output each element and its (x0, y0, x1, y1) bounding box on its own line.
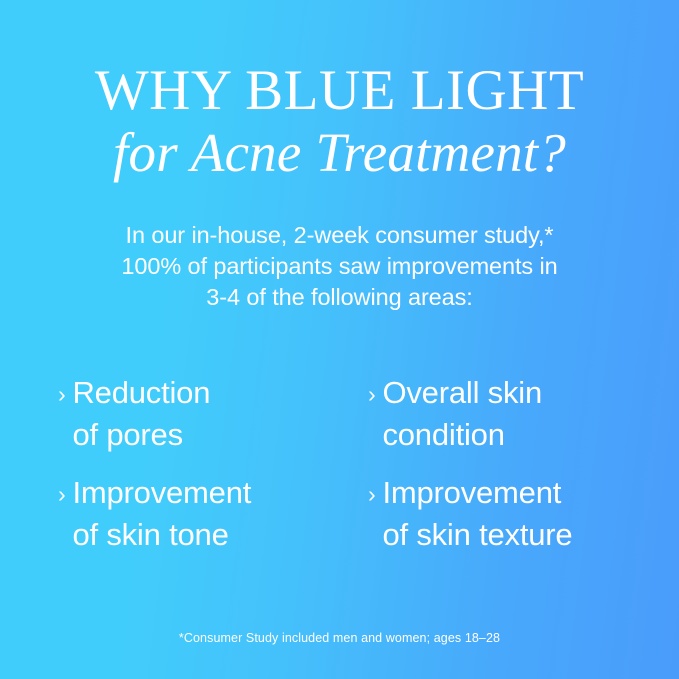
chevron-right-icon: › (58, 472, 65, 516)
chevron-right-icon: › (368, 372, 375, 416)
benefit-label-line-1: Improvement (72, 475, 251, 510)
benefit-label-line-1: Reduction (72, 375, 210, 410)
benefit-label-line-2: of pores (72, 414, 358, 456)
footnote-disclaimer: *Consumer Study included men and women; … (0, 631, 679, 645)
benefit-item-reduction-of-pores: › Reduction of pores (58, 372, 358, 472)
benefit-label: Reduction of pores (72, 372, 358, 456)
intro-line-2: 100% of participants saw improvements in (70, 251, 610, 282)
benefit-label-line-1: Improvement (382, 475, 561, 510)
chevron-right-icon: › (368, 472, 375, 516)
headline-line-secondary: for Acne Treatment? (0, 125, 679, 180)
benefit-label: Improvement of skin texture (382, 472, 668, 556)
chevron-right-icon: › (58, 372, 65, 416)
intro-line-3: 3-4 of the following areas: (70, 282, 610, 313)
benefits-grid: › Reduction of pores › Overall skin cond… (58, 372, 668, 572)
benefit-label-line-2: of skin tone (72, 514, 358, 556)
poster-canvas: WHY BLUE LIGHT for Acne Treatment? In ou… (0, 0, 679, 679)
page-title: WHY BLUE LIGHT for Acne Treatment? (0, 62, 679, 180)
headline-line-primary: WHY BLUE LIGHT (0, 62, 679, 119)
benefit-label-line-2: of skin texture (382, 514, 668, 556)
benefit-item-improvement-of-skin-texture: › Improvement of skin texture (368, 472, 668, 572)
benefit-label-line-2: condition (382, 414, 668, 456)
benefit-label: Overall skin condition (382, 372, 668, 456)
benefit-item-improvement-of-skin-tone: › Improvement of skin tone (58, 472, 358, 572)
intro-paragraph: In our in-house, 2-week consumer study,*… (70, 220, 610, 313)
benefit-item-overall-skin-condition: › Overall skin condition (368, 372, 668, 472)
intro-line-1: In our in-house, 2-week consumer study,* (70, 220, 610, 251)
benefit-label: Improvement of skin tone (72, 472, 358, 556)
benefit-label-line-1: Overall skin (382, 375, 542, 410)
